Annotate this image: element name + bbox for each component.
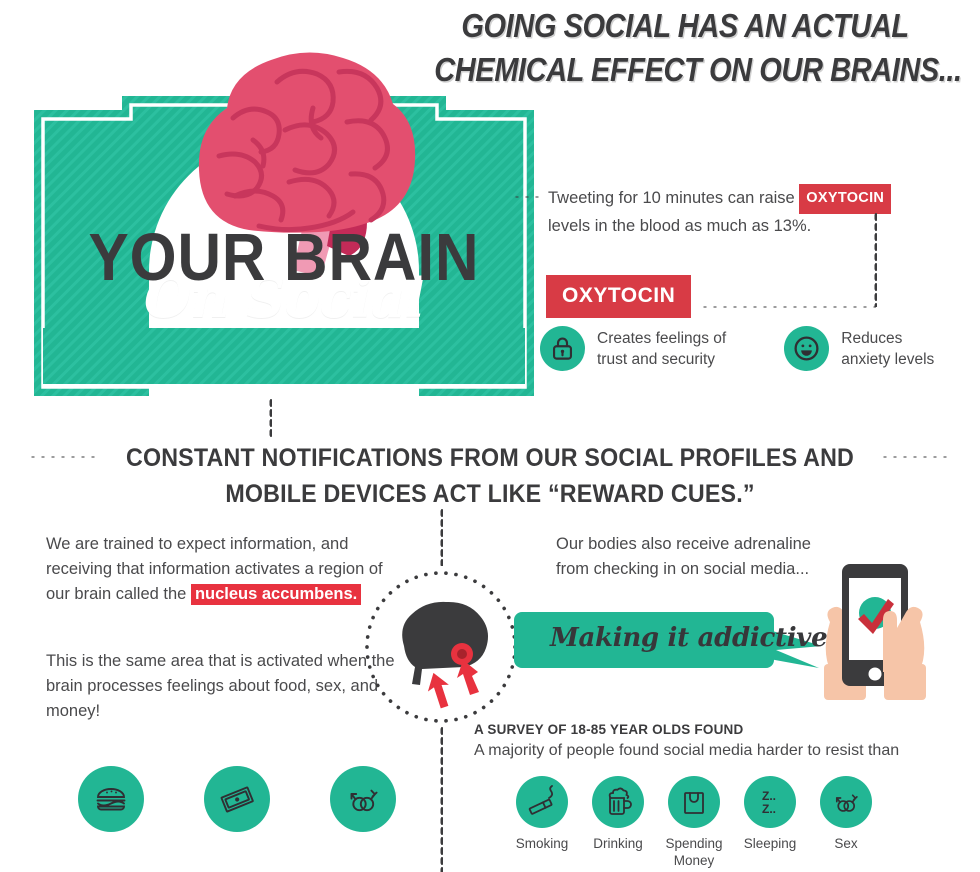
tweet-fact-prefix: Tweeting for 10 minutes can raise — [548, 189, 799, 207]
headline-line-2: CHEMICAL EFFECT ON OUR BRAINS... — [434, 48, 936, 92]
effect-label-trust: Creates feelings of trust and security — [597, 328, 726, 370]
survey-label-sex: Sex — [816, 835, 876, 852]
shopping-bag-icon — [668, 776, 720, 828]
effect-anxiety-line1: Reduces — [841, 330, 902, 347]
sleeping-zzz-icon: Z.. Z.. — [744, 776, 796, 828]
money-icon — [204, 766, 270, 832]
effect-anxiety-line2: anxiety levels — [841, 351, 934, 368]
connector-brain-to-bottom — [439, 726, 443, 872]
connector-sign-to-tweet — [512, 194, 542, 198]
addictive-speech-bubble: Making it addictive! — [514, 612, 824, 674]
sign-title-block: YOUR BRAIN On Social — [34, 224, 534, 330]
connector-badge-left — [700, 304, 876, 308]
oxytocin-effects-list: Creates feelings of trust and security R… — [540, 326, 934, 371]
sign-title-main: YOUR BRAIN — [59, 224, 509, 292]
survey-item-smoking: Smoking — [512, 776, 572, 869]
effect-trust-line2: trust and security — [597, 351, 715, 368]
connector-midheading-to-brain — [439, 508, 443, 566]
mid-heading-line-2: MOBILE DEVICES ACT LIKE “REWARD CUES.” — [34, 476, 945, 512]
reward-icons-row — [78, 766, 396, 832]
beer-mug-icon — [592, 776, 644, 828]
survey-label-smoking: Smoking — [512, 835, 572, 852]
svg-text:Z..: Z.. — [762, 802, 776, 816]
survey-title: A SURVEY OF 18-85 YEAR OLDS FOUND — [474, 722, 944, 737]
nucleus-accumbens-highlight: nucleus accumbens. — [191, 584, 361, 605]
effect-label-anxiety: Reduces anxiety levels — [841, 328, 934, 370]
paragraph-same-area: This is the same area that is activated … — [46, 649, 396, 724]
survey-item-drinking: Drinking — [588, 776, 648, 869]
paragraph-adrenaline: Our bodies also receive adrenaline from … — [556, 532, 816, 582]
gender-symbols-icon — [820, 776, 872, 828]
oxytocin-label: OXYTOCIN — [546, 275, 691, 318]
infographic-canvas: GOING SOCIAL HAS AN ACTUAL CHEMICAL EFFE… — [0, 0, 980, 872]
right-text-column: Our bodies also receive adrenaline from … — [556, 532, 816, 582]
survey-block: A SURVEY OF 18-85 YEAR OLDS FOUND A majo… — [474, 722, 944, 869]
headline-line-1: GOING SOCIAL HAS AN ACTUAL — [434, 4, 936, 48]
brain-sign-panel: YOUR BRAIN On Social — [34, 96, 534, 396]
survey-item-sex: Sex — [816, 776, 876, 869]
lock-icon — [540, 326, 585, 371]
mid-heading: CONSTANT NOTIFICATIONS FROM OUR SOCIAL P… — [0, 440, 980, 512]
gender-symbols-icon — [330, 766, 396, 832]
page-title: GOING SOCIAL HAS AN ACTUAL CHEMICAL EFFE… — [400, 4, 970, 92]
survey-label-drinking: Drinking — [588, 835, 648, 852]
paragraph-nucleus: We are trained to expect information, an… — [46, 532, 396, 607]
survey-label-spending: Spending Money — [664, 835, 724, 869]
survey-item-sleeping: Z.. Z.. Sleeping — [740, 776, 800, 869]
oxytocin-inline-badge: OXYTOCIN — [799, 184, 891, 214]
effect-item-trust: Creates feelings of trust and security — [540, 326, 726, 371]
survey-item-spending: Spending Money — [664, 776, 724, 869]
tweet-fact-text: Tweeting for 10 minutes can raise OXYTOC… — [548, 184, 948, 239]
tweet-fact-suffix: levels in the blood as much as 13%. — [548, 217, 811, 235]
cigarette-icon — [516, 776, 568, 828]
hands-holding-phone-icon — [800, 556, 950, 708]
left-text-column: We are trained to expect information, an… — [46, 532, 396, 724]
mid-heading-line-1: CONSTANT NOTIFICATIONS FROM OUR SOCIAL P… — [34, 440, 945, 476]
burger-icon — [78, 766, 144, 832]
effect-trust-line1: Creates feelings of — [597, 330, 726, 347]
survey-label-sleeping: Sleeping — [740, 835, 800, 852]
survey-items-row: Smoking Drinking — [512, 776, 944, 869]
effect-item-anxiety: Reduces anxiety levels — [784, 326, 934, 371]
survey-subtitle: A majority of people found social media … — [474, 739, 944, 762]
bubble-label: Making it addictive! — [550, 623, 790, 653]
connector-badge-down — [873, 212, 877, 307]
svg-text:Z..: Z.. — [762, 789, 776, 803]
smiley-icon — [784, 326, 829, 371]
connector-sign-to-midheading — [268, 398, 272, 438]
brain-target-icon — [362, 568, 520, 726]
